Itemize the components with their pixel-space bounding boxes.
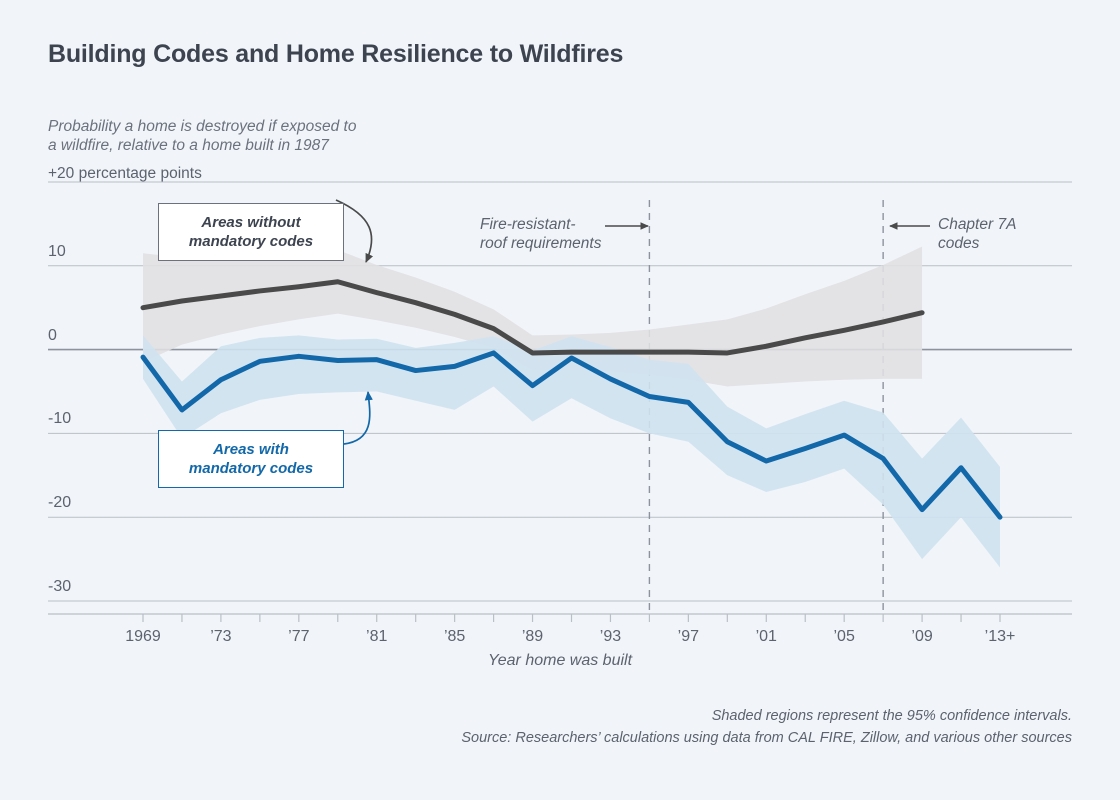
annotation-7a-line-1: Chapter 7A <box>938 216 1016 233</box>
x-axis-tick-label: ’93 <box>600 628 621 646</box>
callout-connector-with-codes <box>344 392 370 444</box>
callout-without-codes-line-2: mandatory codes <box>189 233 313 250</box>
x-axis-tick-label: 1969 <box>125 628 161 646</box>
x-axis-tick-label: ’73 <box>210 628 231 646</box>
x-axis-tick-label: ’97 <box>678 628 699 646</box>
x-axis-tick-label: ’81 <box>366 628 387 646</box>
annotation-fire-resistant-roof: Fire-resistant- roof requirements <box>480 215 601 253</box>
y-axis-tick-label: -30 <box>48 578 71 596</box>
chart-figure: Building Codes and Home Resilience to Wi… <box>0 0 1120 800</box>
annotation-chapter-7a: Chapter 7A codes <box>938 215 1016 253</box>
annotation-roof-line-1: Fire-resistant- <box>480 216 576 233</box>
y-axis-tick-label: 10 <box>48 243 66 261</box>
x-axis-tick-label: ’13+ <box>985 628 1016 646</box>
x-axis-tick-label: ’09 <box>911 628 932 646</box>
footnote-source: Source: Researchers’ calculations using … <box>461 730 1072 746</box>
x-axis-tick-label: ’05 <box>833 628 854 646</box>
x-axis-tick-label: ’85 <box>444 628 465 646</box>
x-axis-tick-label: ’89 <box>522 628 543 646</box>
x-axis-tick-label: ’01 <box>756 628 777 646</box>
callout-with-codes-line-2: mandatory codes <box>189 460 313 477</box>
annotation-7a-line-2: codes <box>938 235 979 252</box>
y-axis-tick-label: 0 <box>48 327 57 345</box>
legend-callout-with-codes: Areas with mandatory codes <box>158 430 344 488</box>
x-axis-title: Year home was built <box>0 652 1120 670</box>
annotation-roof-line-2: roof requirements <box>480 235 601 252</box>
x-axis-tick-label: ’77 <box>288 628 309 646</box>
callout-without-codes-line-1: Areas without <box>201 214 300 231</box>
footnote-confidence-intervals: Shaded regions represent the 95% confide… <box>712 708 1072 724</box>
y-axis-tick-label: -20 <box>48 494 71 512</box>
legend-callout-without-codes: Areas without mandatory codes <box>158 203 344 261</box>
plot-area <box>0 0 1120 700</box>
y-axis-tick-label: -10 <box>48 410 71 428</box>
callout-with-codes-line-1: Areas with <box>213 441 289 458</box>
